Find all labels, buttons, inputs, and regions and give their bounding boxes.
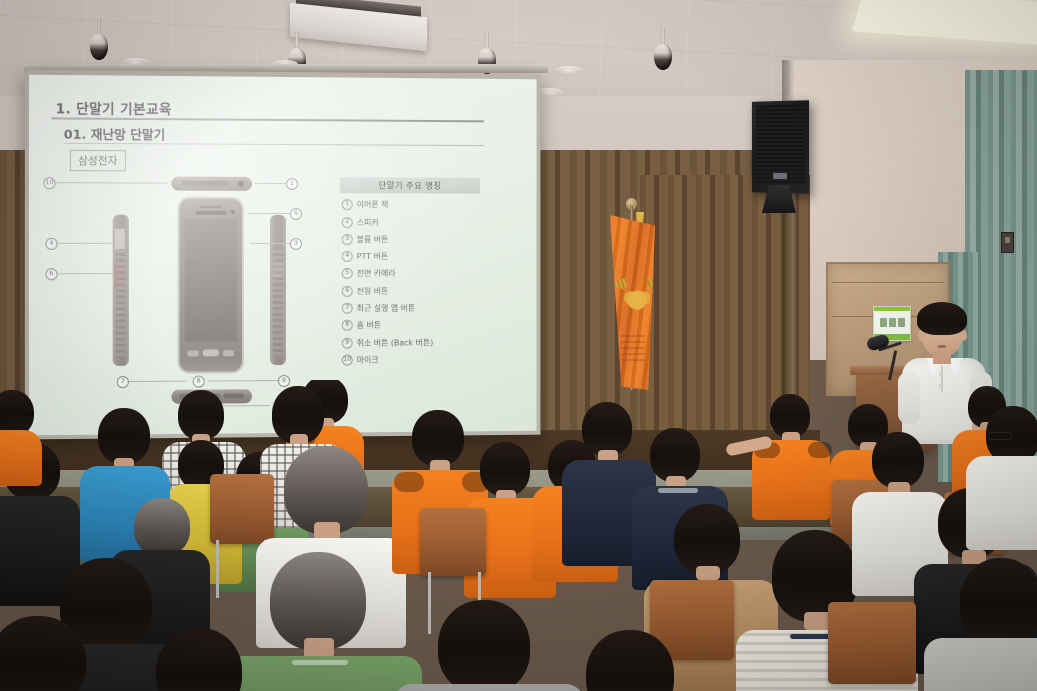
slide-subheading-rule (64, 143, 484, 146)
legend-item: 6전원 버튼 (342, 285, 488, 296)
legend-item-label: 최근 실행 앱 버튼 (357, 303, 416, 314)
wall-pa-speaker (752, 100, 809, 194)
slide-vendor-tag: 삼성전자 (70, 150, 126, 171)
legend-item-label: 스피커 (357, 217, 379, 228)
legend-list: 1이어폰 잭 2스피커 3볼륨 버튼 4PTT 버튼 5전면 카메라 6전원 버… (340, 199, 488, 365)
flag-inscription (621, 335, 645, 361)
legend-item-label: 취소 버튼 (Back 버튼) (357, 337, 434, 348)
legend-item: 5전면 카메라 (342, 268, 488, 279)
legend-item: 1이어폰 잭 (342, 199, 488, 210)
device-top-edge-view (171, 177, 252, 191)
volume-button-icon (115, 229, 125, 251)
device-screen (185, 219, 237, 342)
legend-item-label: 마이크 (357, 354, 379, 365)
legend-item: 3볼륨 버튼 (342, 234, 488, 245)
callout-5: 5 (290, 208, 302, 220)
legend-item: 10마이크 (342, 354, 488, 366)
ceiling-spotlight (654, 28, 672, 72)
legend-item: 9취소 버튼 (Back 버튼) (342, 337, 488, 349)
device-right-side-view (270, 215, 286, 365)
wall-switch-plate[interactable] (1001, 232, 1014, 253)
legend-item-label: 홈 버튼 (357, 320, 381, 331)
callout-1: 1 (286, 178, 298, 190)
speaker-icon (200, 206, 222, 208)
legend-item-label: 전원 버튼 (357, 286, 389, 297)
legend-item: 2스피커 (342, 217, 488, 228)
device-left-side-view (113, 215, 129, 366)
device-legend: 단말기 주요 명칭 1이어폰 잭 2스피커 3볼륨 버튼 4PTT 버튼 5전면… (340, 177, 488, 365)
callout-6: 6 (45, 268, 57, 280)
legend-item-label: 이어폰 잭 (357, 199, 389, 210)
device-brand-logo (196, 211, 226, 215)
device-front-view (180, 199, 242, 372)
front-camera-icon (231, 210, 235, 214)
slide-heading-rule (51, 117, 483, 122)
slide-subheading: 01. 재난망 단말기 (64, 124, 165, 144)
legend-item: 4PTT 버튼 (342, 251, 488, 262)
speaker-grill-icon (756, 104, 805, 183)
auditorium-scene: 1. 단말기 기본교육 01. 재난망 단말기 삼성전자 (0, 0, 1037, 691)
legend-item-label: 볼륨 버튼 (357, 234, 389, 245)
callout-10: 10 (43, 177, 55, 189)
recessed-downlight (556, 66, 582, 75)
callout-3: 3 (290, 238, 302, 250)
callout-4: 4 (45, 238, 57, 250)
slide-heading: 1. 단말기 기본교육 (56, 97, 172, 118)
legend-item: 8홈 버튼 (342, 320, 488, 331)
legend-item-label: PTT 버튼 (357, 251, 388, 262)
legend-title: 단말기 주요 명칭 (340, 177, 480, 193)
eyeglasses-icon (988, 432, 1012, 440)
auditorium-chair (828, 602, 916, 684)
earphone-jack-icon (238, 181, 244, 187)
flag-eagle-emblem (619, 277, 655, 317)
home-button-icon (203, 349, 219, 356)
auditorium-chair (210, 474, 274, 544)
legend-item-label: 전면 카메라 (357, 268, 396, 279)
legend-item: 7최근 실행 앱 버튼 (342, 303, 488, 314)
back-button-icon (223, 350, 234, 356)
presenter-hair (917, 302, 967, 335)
ceiling-spotlight (90, 18, 108, 62)
audience (0, 380, 1037, 691)
auditorium-chair (420, 508, 486, 576)
recent-apps-button-icon (188, 350, 199, 356)
